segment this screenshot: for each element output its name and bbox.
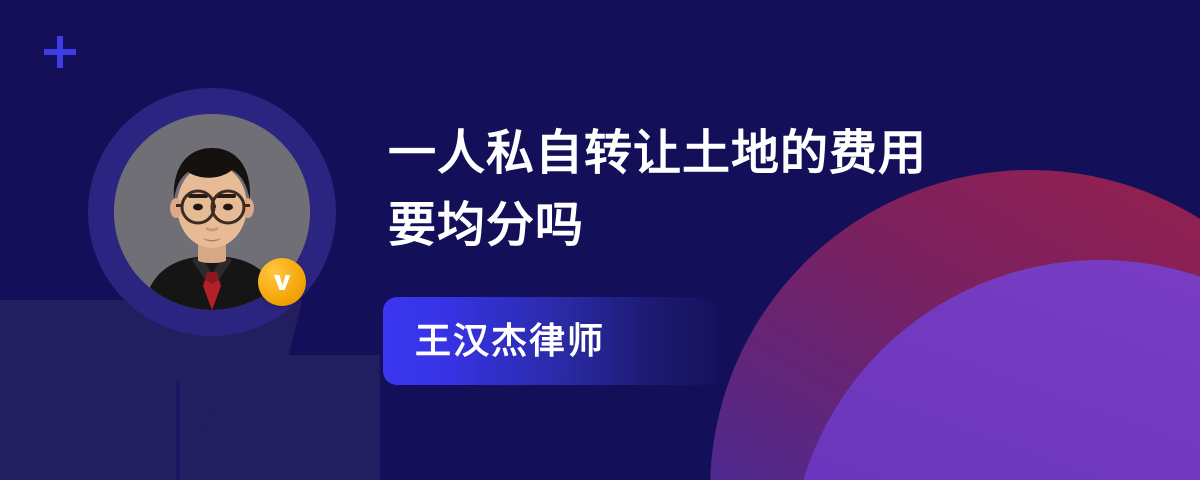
verified-badge-icon bbox=[258, 258, 306, 306]
plus-icon-bar-vertical bbox=[57, 36, 63, 68]
lawyer-name-label: 王汉杰律师 bbox=[415, 323, 605, 359]
plus-icon bbox=[44, 36, 76, 68]
page-title: 一人私自转让土地的费用 要均分吗 bbox=[388, 118, 1128, 262]
lawyer-name-chip[interactable]: 王汉杰律师 bbox=[383, 297, 718, 385]
avatar[interactable] bbox=[88, 88, 336, 336]
decorative-seam bbox=[176, 380, 180, 480]
lawyer-question-banner: 一人私自转让土地的费用 要均分吗 王汉杰律师 bbox=[0, 0, 1200, 480]
